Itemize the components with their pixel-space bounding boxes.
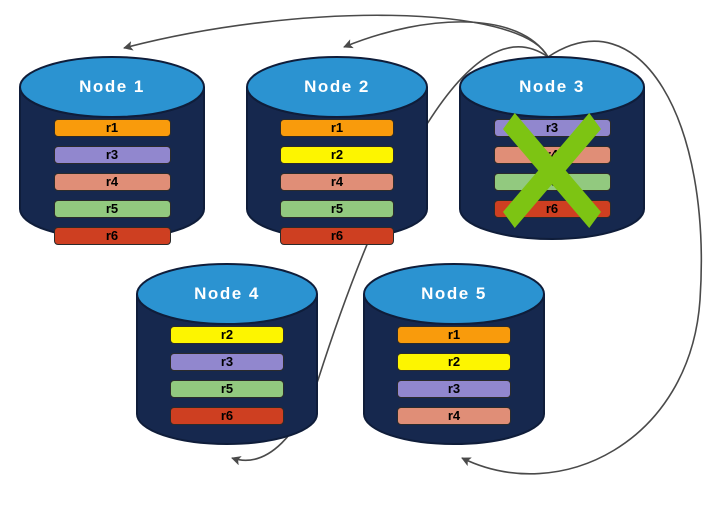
replica-bar[interactable]: r6	[54, 227, 171, 245]
replica-bar[interactable]: r6	[280, 227, 394, 245]
replica-bar[interactable]: r2	[170, 326, 284, 344]
replica-bar[interactable]: r5	[170, 380, 284, 398]
replica-bar[interactable]: r3	[494, 119, 611, 137]
replica-bar[interactable]: r1	[54, 119, 171, 137]
replica-bar[interactable]: r6	[494, 200, 611, 218]
replica-bar[interactable]: r3	[54, 146, 171, 164]
database-node-2[interactable]: Node 2r1r2r4r5r6	[245, 55, 429, 241]
database-node-4[interactable]: Node 4r2r3r5r6	[135, 262, 319, 446]
replica-bar[interactable]: r3	[397, 380, 511, 398]
database-node-5[interactable]: Node 5r1r2r3r4	[362, 262, 546, 446]
arrow-node3-to-node2	[344, 22, 548, 57]
replica-bar[interactable]: r5	[494, 173, 611, 191]
replica-bar[interactable]: r4	[397, 407, 511, 425]
replica-bar[interactable]: r2	[397, 353, 511, 371]
replica-bar[interactable]: r5	[280, 200, 394, 218]
replica-bar[interactable]: r4	[280, 173, 394, 191]
replica-list: r1r3r4r5r6	[18, 119, 206, 245]
replica-list: r1r2r4r5r6	[245, 119, 429, 245]
replica-bar[interactable]: r4	[494, 146, 611, 164]
database-node-1[interactable]: Node 1r1r3r4r5r6	[18, 55, 206, 241]
arrow-node3-to-node1	[124, 15, 548, 57]
replica-list: r1r2r3r4	[362, 326, 546, 425]
replica-bar[interactable]: r3	[170, 353, 284, 371]
replica-bar[interactable]: r1	[397, 326, 511, 344]
replica-bar[interactable]: r4	[54, 173, 171, 191]
replica-list: r3r4r5r6	[458, 119, 646, 218]
replica-bar[interactable]: r2	[280, 146, 394, 164]
database-node-3[interactable]: Node 3r3r4r5r6	[458, 55, 646, 241]
diagram-canvas: Node 1r1r3r4r5r6Node 2r1r2r4r5r6Node 3r3…	[0, 0, 708, 508]
replica-bar[interactable]: r6	[170, 407, 284, 425]
replica-bar[interactable]: r1	[280, 119, 394, 137]
replica-list: r2r3r5r6	[135, 326, 319, 425]
replica-bar[interactable]: r5	[54, 200, 171, 218]
